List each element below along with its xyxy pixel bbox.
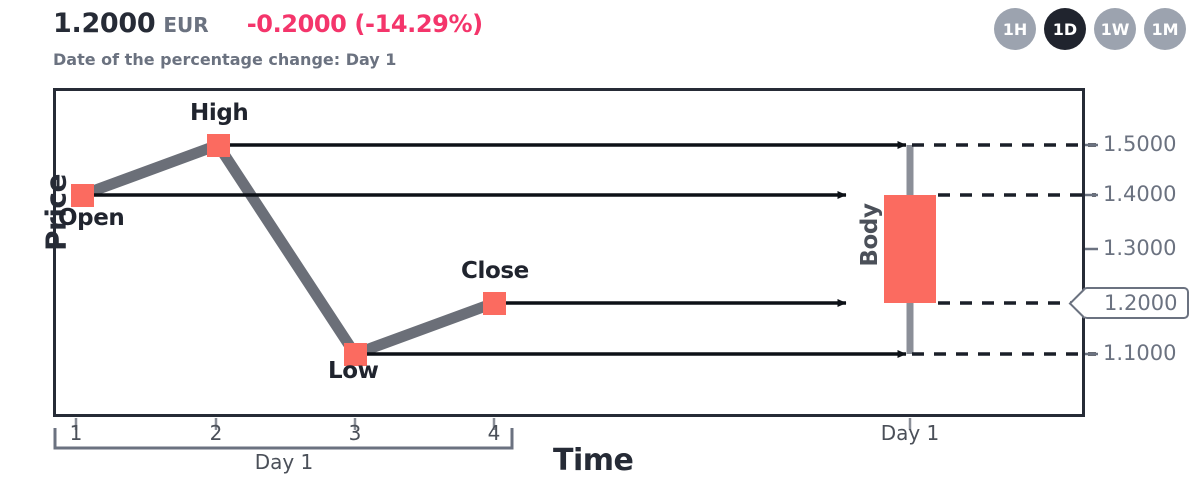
range-selector: 1H 1D 1W 1M xyxy=(994,8,1186,50)
x-tick-label-1: 1 xyxy=(56,421,96,445)
quote-change: -0.2000 (-14.29%) xyxy=(247,10,483,38)
current-price-axis-badge: 1.2000 xyxy=(1082,287,1189,319)
quote-row: 1.2000 EUR -0.2000 (-14.29%) xyxy=(53,8,483,39)
current-price-value: 1.2000 xyxy=(1104,291,1177,315)
quote-price: 1.2000 xyxy=(53,8,155,39)
y-tick-label-1-4000: 1.4000 xyxy=(1103,182,1176,206)
range-button-1d[interactable]: 1D xyxy=(1044,8,1086,50)
percentage-change-note: Date of the percentage change: Day 1 xyxy=(53,50,396,69)
y-tick-label-1-5000: 1.5000 xyxy=(1103,132,1176,156)
label-high: High xyxy=(190,100,248,126)
quote-header: 1.2000 EUR -0.2000 (-14.29%) Date of the… xyxy=(53,8,1083,84)
x-tick-label-2: 2 xyxy=(196,421,236,445)
x-tick-label-3: 3 xyxy=(335,421,375,445)
range-button-1w[interactable]: 1W xyxy=(1094,8,1136,50)
y-tick-label-1-3000: 1.3000 xyxy=(1103,236,1176,260)
x-tick-label-4: 4 xyxy=(474,421,514,445)
y-tick-label-1-1000: 1.1000 xyxy=(1103,341,1176,365)
range-button-1h[interactable]: 1H xyxy=(994,8,1036,50)
range-button-1m[interactable]: 1M xyxy=(1144,8,1186,50)
quote-currency: EUR xyxy=(163,13,208,37)
x-tick-label-candle: Day 1 xyxy=(870,421,950,445)
x-axis-title: Time xyxy=(553,443,633,478)
x-group-label: Day 1 xyxy=(196,450,372,474)
label-body: Body xyxy=(857,180,883,290)
label-low: Low xyxy=(328,358,379,384)
chart-plot-area xyxy=(53,88,1085,417)
label-open: Open xyxy=(58,205,124,231)
label-close: Close xyxy=(461,258,529,284)
x-group-brace xyxy=(55,428,512,448)
